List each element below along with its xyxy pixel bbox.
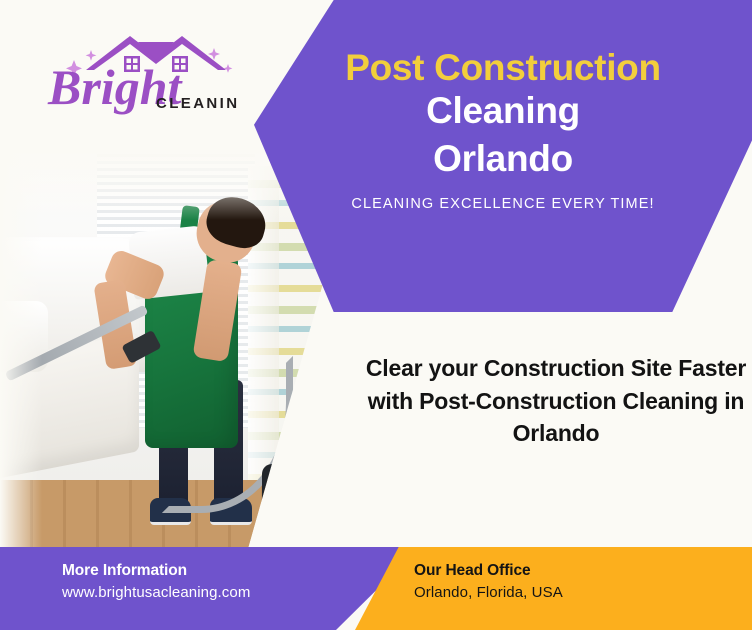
- footer-head-office: Our Head Office Orlando, Florida, USA: [414, 562, 563, 601]
- banner-tagline: CLEANING EXCELLENCE EVERY TIME!: [351, 196, 654, 212]
- headline-line-1: Post Construction: [345, 48, 661, 87]
- footer-left-title: More Information: [62, 562, 250, 580]
- footer-more-information: More Information www.brightusacleaning.c…: [62, 562, 250, 601]
- photo-left-fade: [0, 150, 42, 547]
- logo-sub-text: CLEANING: [156, 95, 238, 112]
- footer-right-title: Our Head Office: [414, 562, 563, 580]
- brand-logo: Bright CLEANING: [38, 26, 238, 116]
- headline-line-2: Cleaning: [426, 87, 580, 134]
- vacuum-hose: [162, 356, 293, 513]
- body-copy: Clear your Construction Site Faster with…: [360, 352, 752, 450]
- flyer-poster: Post Construction Cleaning Orlando CLEAN…: [0, 0, 752, 630]
- hexagon-banner-content: Post Construction Cleaning Orlando CLEAN…: [254, 0, 752, 312]
- footer-website-url[interactable]: www.brightusacleaning.com: [62, 584, 250, 601]
- headline-line-3: Orlando: [433, 135, 573, 182]
- footer-office-location: Orlando, Florida, USA: [414, 584, 563, 601]
- vacuum-canister: [262, 464, 317, 516]
